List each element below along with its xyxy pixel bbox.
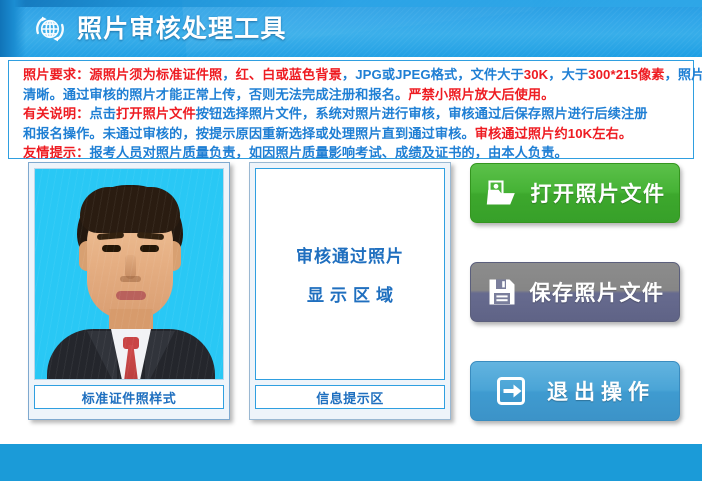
approved-photo-display-panel: 审核通过照片 显示区域 信息提示区: [249, 162, 451, 420]
open-photo-file-label: 打开照片文件: [531, 178, 666, 208]
info-message-area: 信息提示区: [255, 385, 445, 409]
notice-line-1: 照片要求：源照片须为标准证件照，红、白或蓝色背景，JPG或JPEG格式，文件大于…: [23, 65, 691, 85]
notice-text-run: 报考人员对照片质量负责，如因照片质量影响考试、成绩及证书的，由本人负责。: [89, 145, 567, 160]
exit-arrow-icon: [495, 374, 529, 408]
globe-refresh-icon: [32, 11, 68, 47]
sample-photo-panel: 标准证件照样式: [28, 162, 230, 420]
page-title: 照片审核处理工具: [77, 17, 287, 42]
notice-text-run: 有关说明：: [23, 106, 89, 121]
display-area-line-1: 审核通过照片: [296, 242, 404, 267]
save-photo-file-button[interactable]: 保存照片文件: [470, 262, 680, 322]
notice-text-run: ，: [222, 67, 235, 82]
notice-text-run: 300*215像素: [588, 67, 664, 82]
notice-text-run: 红、白或蓝色背景: [236, 67, 342, 82]
notice-text-run: 和报名操作。未通过审核的，按提示原因重新选择或处理照片直到通过审核。: [23, 126, 475, 141]
notice-text-run: 点击: [89, 106, 116, 121]
notice-line-4: 和报名操作。未通过审核的，按提示原因重新选择或处理照片直到通过审核。审核通过照片…: [23, 124, 691, 144]
notice-text-run: ，JPG或JPEG格式，文件大于: [342, 67, 524, 82]
notice-text-run: ，大于: [548, 67, 588, 82]
notice-line-5: 友情提示：报考人员对照片质量负责，如因照片质量影响考试、成绩及证书的，由本人负责…: [23, 143, 691, 163]
sample-photo-caption: 标准证件照样式: [34, 385, 224, 409]
floppy-save-icon: [486, 276, 518, 308]
notice-line-3: 有关说明：点击打开照片文件按钮选择照片文件，系统对照片进行审核，审核通过后保存照…: [23, 104, 691, 124]
notice-line-2: 清晰。通过审核的照片才能正常上传，否则无法完成注册和报名。严禁小照片放大后使用。: [23, 85, 691, 105]
app-footer-bar: [0, 444, 702, 481]
header-left-edge: [0, 0, 26, 57]
app-header: 照片审核处理工具: [0, 0, 702, 57]
display-area-line-2: 显示区域: [301, 281, 399, 306]
notice-text-run: 审核通过照片约10K左右。: [475, 126, 632, 141]
notice-text-run: 打开照片文件: [116, 106, 196, 121]
open-photo-file-button[interactable]: 打开照片文件: [470, 163, 680, 223]
save-photo-file-label: 保存照片文件: [530, 277, 665, 307]
notice-text-run: 清晰。通过审核的照片才能正常上传，否则无法完成注册和报名。: [23, 87, 408, 102]
exit-label: 退出操作: [541, 376, 655, 406]
approved-photo-display-area[interactable]: 审核通过照片 显示区域: [255, 168, 445, 380]
notice-text-run: 友情提示：: [23, 145, 89, 160]
notice-text-run: ，照片: [665, 67, 702, 82]
notice-text-run: 30K: [524, 67, 549, 82]
notice-text-run: 照片要求：源照片须为标准证件照: [23, 67, 222, 82]
requirements-notice-panel: 照片要求：源照片须为标准证件照，红、白或蓝色背景，JPG或JPEG格式，文件大于…: [8, 60, 694, 159]
sample-id-photo-image: [34, 168, 224, 380]
notice-text-run: 严禁小照片放大后使用。: [408, 87, 554, 102]
exit-button[interactable]: 退出操作: [470, 361, 680, 421]
header-top-edge: [0, 0, 702, 7]
open-photo-folder-icon: [485, 176, 519, 210]
application-window: 照片审核处理工具 照片要求：源照片须为标准证件照，红、白或蓝色背景，JPG或JP…: [0, 0, 702, 481]
header-title-group: 照片审核处理工具: [32, 8, 287, 50]
notice-text-run: 按钮选择照片文件，系统对照片进行审核，审核通过后保存照片进行后续注册: [196, 106, 648, 121]
